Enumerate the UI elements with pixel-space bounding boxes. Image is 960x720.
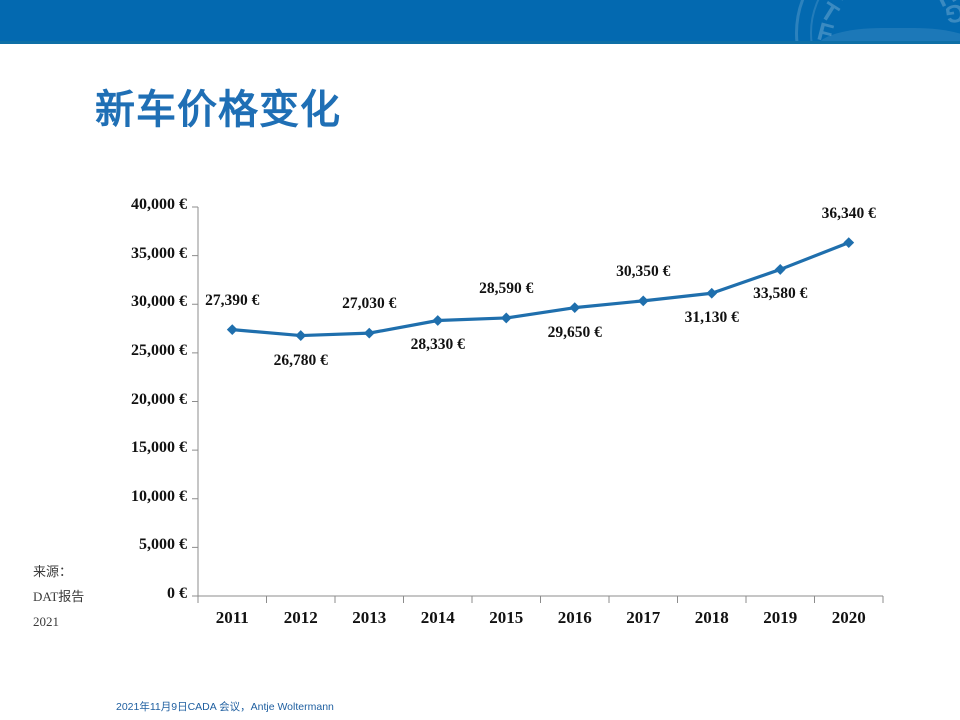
y-axis-tick-label: 30,000 €: [101, 293, 187, 311]
x-axis-tick-label: 2019: [746, 608, 814, 628]
source-note-line-3: 2021: [33, 609, 129, 634]
data-point-marker[interactable]: [364, 328, 375, 339]
slide-canvas: KRAFTFAHRZEUG 新车价格变化 0 €5,000 €10,000 €1…: [0, 0, 960, 720]
y-axis-tick-label: 15,000 €: [101, 439, 187, 457]
x-axis-tick-label: 2020: [815, 608, 883, 628]
data-point-marker[interactable]: [638, 295, 649, 306]
data-point-label: 27,390 €: [180, 292, 284, 310]
source-note: 来源： DAT报告 2021: [33, 559, 129, 634]
data-point-label: 27,030 €: [317, 295, 421, 313]
data-point-marker[interactable]: [295, 330, 306, 341]
source-note-line-1: 来源：: [33, 559, 129, 584]
data-point-marker[interactable]: [501, 313, 512, 324]
y-axis-tick-label: 40,000 €: [101, 196, 187, 214]
x-axis-tick-label: 2012: [267, 608, 335, 628]
x-axis-tick-label: 2014: [404, 608, 472, 628]
data-point-label: 28,330 €: [386, 336, 490, 354]
data-point-marker[interactable]: [227, 324, 238, 335]
data-point-marker[interactable]: [843, 237, 854, 248]
y-axis-tick-label: 20,000 €: [101, 391, 187, 409]
data-point-label: 30,350 €: [591, 263, 695, 281]
data-point-marker[interactable]: [706, 288, 717, 299]
data-point-label: 28,590 €: [454, 280, 558, 298]
line-chart: 0 €5,000 €10,000 €15,000 €20,000 €25,000…: [0, 0, 960, 720]
x-axis-tick-label: 2013: [335, 608, 403, 628]
data-point-marker[interactable]: [775, 264, 786, 275]
y-axis-tick-label: 5,000 €: [101, 536, 187, 554]
data-point-label: 29,650 €: [523, 324, 627, 342]
data-point-label: 31,130 €: [660, 309, 764, 327]
x-axis-tick-label: 2017: [609, 608, 677, 628]
footer-text: 2021年11月9日CADA 会议，Antje Woltermann: [116, 699, 334, 714]
data-point-label: 36,340 €: [797, 205, 901, 223]
y-axis-tick-label: 10,000 €: [101, 488, 187, 506]
y-axis-tick-label: 35,000 €: [101, 245, 187, 263]
x-axis-tick-label: 2018: [678, 608, 746, 628]
x-axis-tick-label: 2011: [198, 608, 266, 628]
y-axis-tick-label: 25,000 €: [101, 342, 187, 360]
x-axis-tick-label: 2016: [541, 608, 609, 628]
x-axis-tick-label: 2015: [472, 608, 540, 628]
data-point-label: 33,580 €: [728, 285, 832, 303]
data-point-marker[interactable]: [432, 315, 443, 326]
data-point-marker[interactable]: [569, 302, 580, 313]
source-note-line-2: DAT报告: [33, 584, 129, 609]
data-point-label: 26,780 €: [249, 352, 353, 370]
